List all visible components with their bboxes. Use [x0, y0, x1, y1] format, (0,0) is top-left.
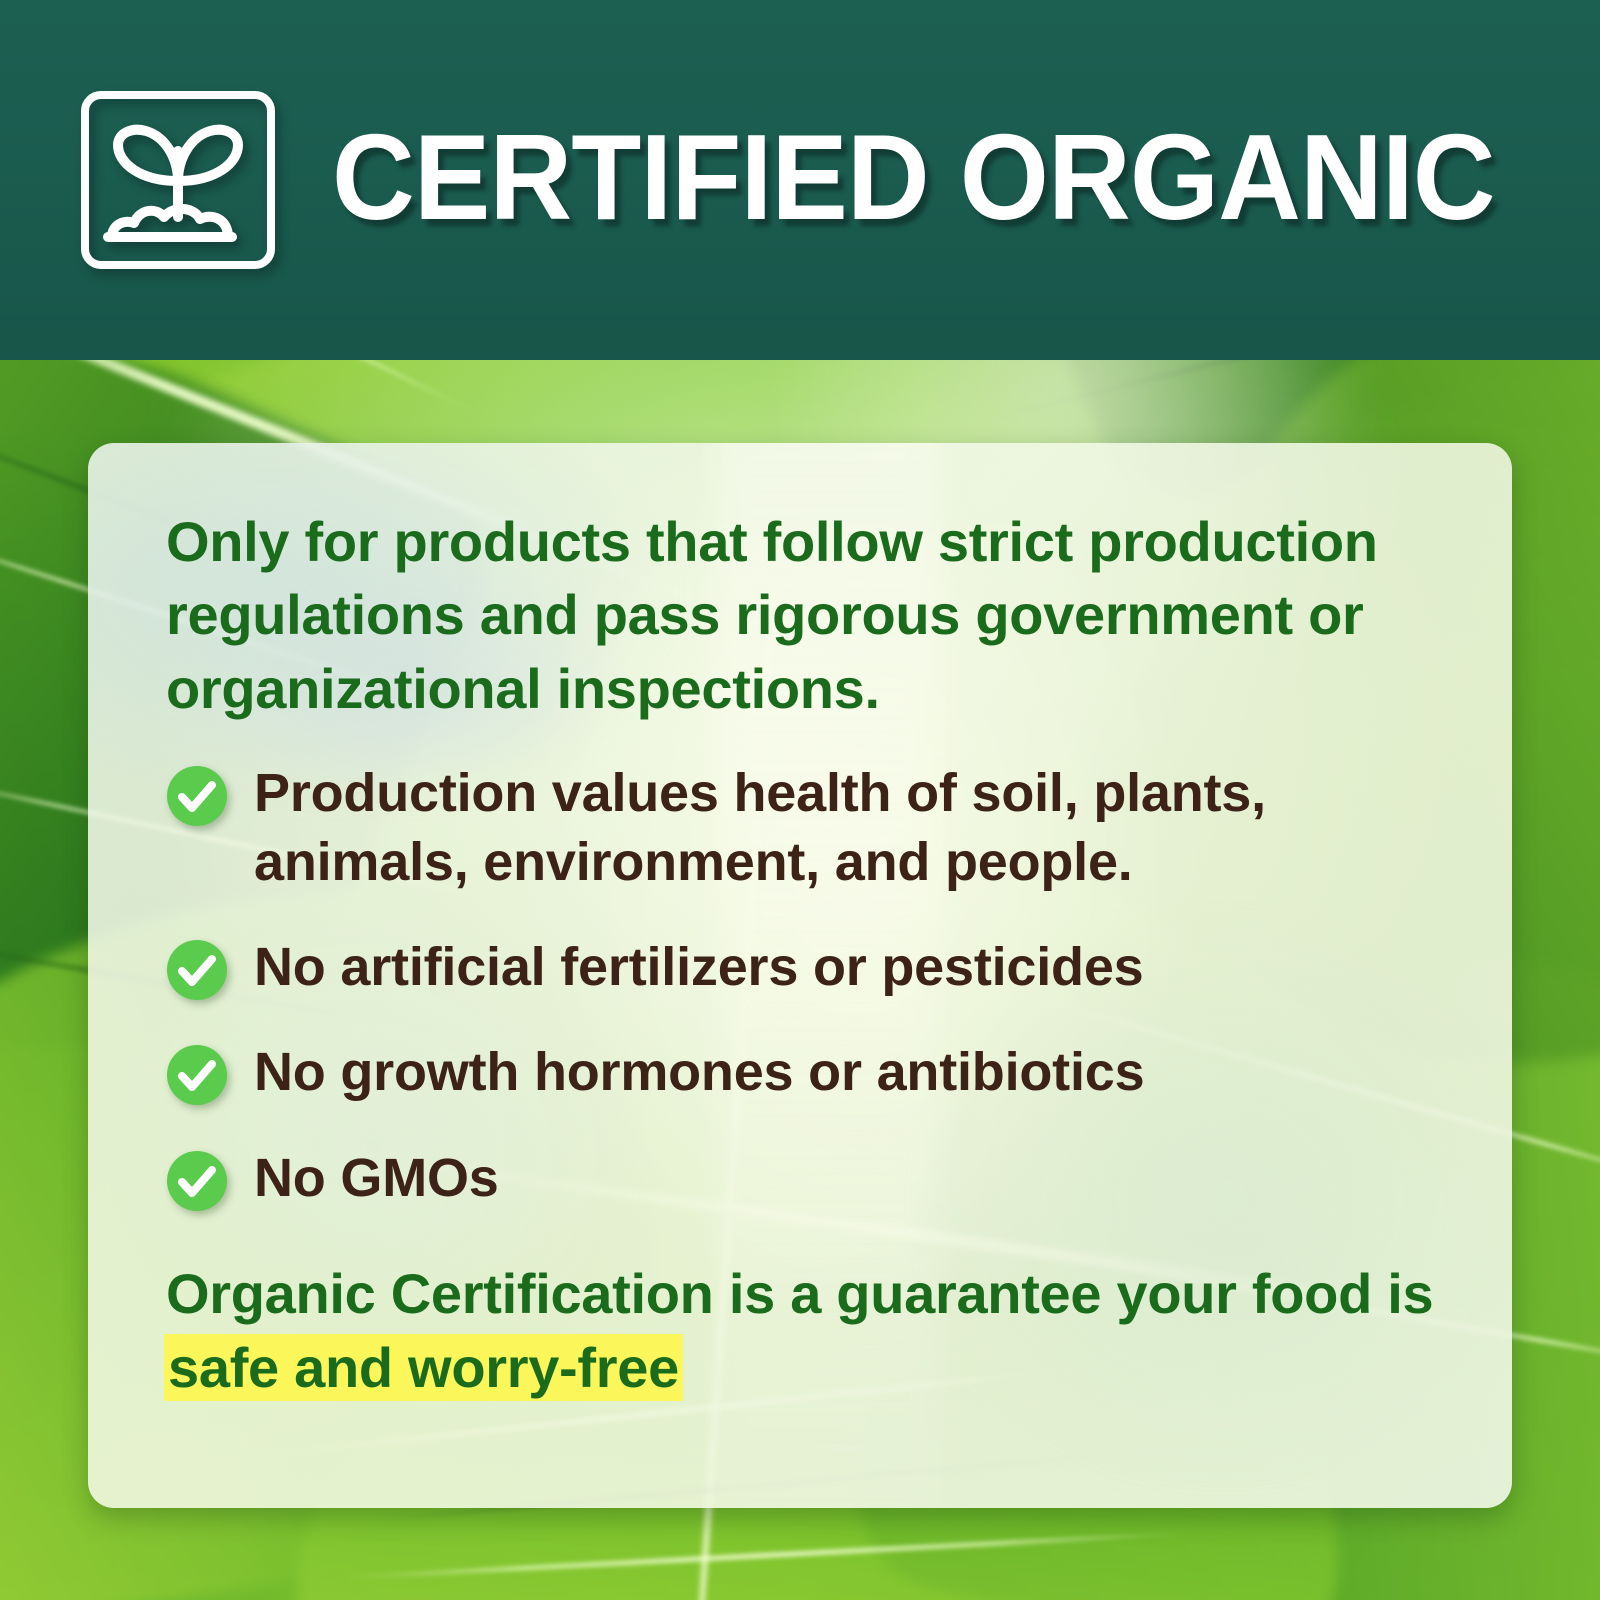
- benefits-checklist: Production values health of soil, plants…: [166, 759, 1450, 1213]
- header-inner: CERTIFIED ORGANIC: [78, 0, 1600, 360]
- content-card: Only for products that follow strict pro…: [88, 443, 1512, 1508]
- check-circle-icon: [166, 765, 228, 827]
- header-bar: CERTIFIED ORGANIC: [0, 0, 1600, 360]
- check-circle-icon: [166, 1150, 228, 1212]
- intro-paragraph: Only for products that follow strict pro…: [166, 505, 1436, 725]
- card-content: Only for products that follow strict pro…: [88, 443, 1512, 1404]
- list-item: No GMOs: [166, 1144, 1450, 1213]
- list-item-label: No GMOs: [254, 1144, 499, 1213]
- list-item: No growth hormones or antibiotics: [166, 1038, 1450, 1107]
- closing-statement-highlight: safe and worry-free: [166, 1336, 681, 1399]
- check-circle-icon: [166, 1044, 228, 1106]
- page-title: CERTIFIED ORGANIC: [332, 116, 1495, 238]
- list-item-label: No artificial fertilizers or pesticides: [254, 933, 1144, 1002]
- check-circle-icon: [166, 939, 228, 1001]
- sprout-seedling-icon: [78, 89, 278, 271]
- list-item: No artificial fertilizers or pesticides: [166, 933, 1450, 1002]
- list-item-label: Production values health of soil, plants…: [254, 759, 1450, 897]
- list-item-label: No growth hormones or antibiotics: [254, 1038, 1144, 1107]
- certified-organic-infographic: CERTIFIED ORGANIC Only for products that…: [0, 0, 1600, 1600]
- closing-statement: Organic Certification is a guarantee you…: [166, 1257, 1446, 1405]
- closing-statement-lead: Organic Certification is a guarantee you…: [166, 1262, 1433, 1325]
- list-item: Production values health of soil, plants…: [166, 759, 1450, 897]
